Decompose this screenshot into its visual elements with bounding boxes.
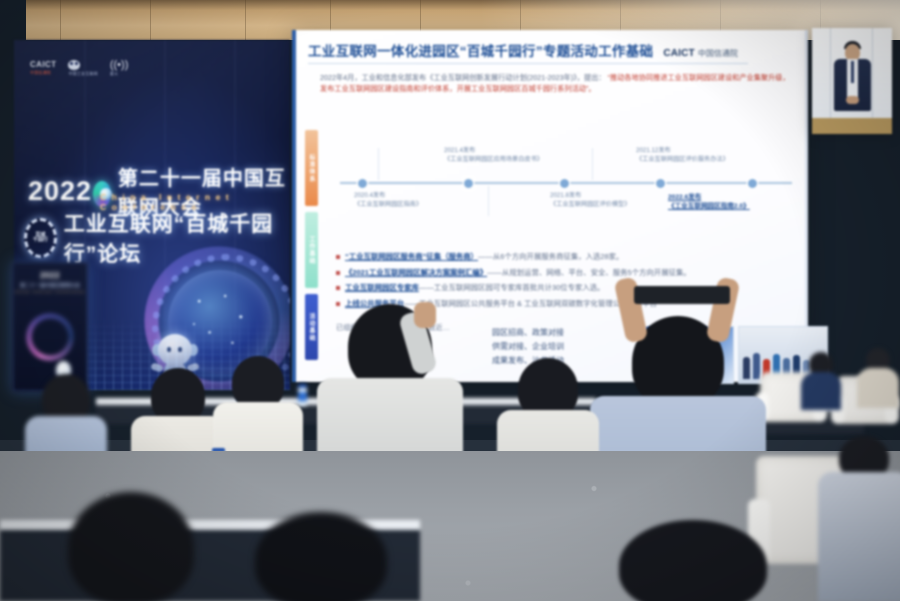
bullet-square-icon xyxy=(336,271,340,275)
slide-paragraph-plain: 2022年4月，工业和信息化部发布《工业互联网创新发展行动计划(2021-202… xyxy=(320,73,606,82)
gear-icon: 百城千园行 xyxy=(24,218,57,258)
timeline-node-2 xyxy=(464,179,473,188)
list-item: 《2021工业互联网园区解决方案案例汇编》——从规划运营、网络、平台、安全、服务… xyxy=(336,268,791,277)
sponsor-logo-caict-sub: 中国信通院 xyxy=(30,70,51,76)
timeline-label-1: 2020.4发布 《工业互联网园区指南》 xyxy=(354,192,422,209)
slide-tab-standards-label: 标准体系 xyxy=(307,154,316,183)
slide-tab-standards: 标准体系 xyxy=(305,130,318,206)
sponsor-logo-iic-sub: 中国工业互联网 xyxy=(68,71,97,77)
sponsor-logo-row: CAICT 中国信通院 中国工业互联网 ((•)) 星火 xyxy=(30,60,128,77)
bullet-3-highlight: 工业互联网园区专家库 xyxy=(345,283,419,292)
stage-podium: 2022 第二十一届中国互联网大会 China Internet Confere… xyxy=(12,262,88,392)
sponsor-logo-xinghuo-sub: 星火 xyxy=(110,71,118,77)
podium-conference-name-en: China Internet Conference xyxy=(13,290,87,294)
podium-conference-name: 第二十一届中国互联网大会 xyxy=(13,282,87,289)
timeline-label-5-date: 2022.6发布 xyxy=(668,194,701,201)
sponsor-logo-caict: CAICT 中国信通院 xyxy=(30,61,56,76)
slide-org-abbr: CAICT xyxy=(663,48,695,59)
person-foreground-left xyxy=(56,492,206,601)
slide-tab-workbasis-label: 工作基础 xyxy=(307,236,316,265)
person-standing-right xyxy=(818,436,900,601)
timeline-label-3-doc: 《工业互联网园区评价模型》 xyxy=(550,201,630,208)
conference-photo: CAICT 中国信通院 中国工业互联网 ((•)) 星火 2022 第二十一届中… xyxy=(0,0,900,601)
person-seated-back-1 xyxy=(800,352,842,408)
bullet-2-highlight: 《2021工业互联网园区解决方案案例汇编》 xyxy=(345,268,487,277)
timeline-node-4 xyxy=(656,179,665,188)
screen-left-edge xyxy=(292,30,296,382)
bullet-1-rest: ——从6个方向开展服务商征集，入选28家。 xyxy=(478,252,623,261)
slide-bottom-col-1: 园区招商、政策对接 xyxy=(492,326,564,340)
person-foreground-center xyxy=(246,512,396,601)
bullet-3-rest: ——工业互联网园区园可专家库首批共计30位专家入选。 xyxy=(419,283,605,292)
slide-org-name: 中国信通院 xyxy=(698,48,738,59)
bullet-1-highlight: “工业互联网园区服务商”征集（服务商） xyxy=(345,252,478,261)
person-foreground-right xyxy=(608,520,778,601)
list-item: “工业互联网园区服务商”征集（服务商）——从6个方向开展服务商征集，入选28家。 xyxy=(336,252,791,261)
slide-title-divider xyxy=(308,63,748,64)
slide-timeline-axis xyxy=(340,182,792,184)
sponsor-logo-caict-main: CAICT xyxy=(30,61,56,69)
slide-tab-activitybasis-label: 活动基础 xyxy=(307,313,316,342)
timeline-label-1-doc: 《工业互联网园区指南》 xyxy=(354,201,422,208)
slide-paragraph: 2022年4月，工业和信息化部发布《工业互联网创新发展行动计划(2021-202… xyxy=(320,72,790,94)
bullet-square-icon xyxy=(336,255,340,259)
sponsor-logo-iic: 中国工业互联网 xyxy=(68,60,97,77)
timeline-label-5-doc: 《工业互联网园区指南2.0》 xyxy=(668,203,750,210)
timeline-label-2-date: 2021.4发布 xyxy=(444,147,475,154)
timeline-node-5 xyxy=(748,179,757,188)
bullet-square-icon xyxy=(336,286,340,290)
timeline-label-1-date: 2020.4发布 xyxy=(354,192,385,199)
timeline-label-5: 2022.6发布 《工业互联网园区指南2.0》 xyxy=(668,194,750,211)
timeline-label-3-date: 2021.8发布 xyxy=(550,192,581,199)
slide-title: 工业互联网一体化进园区“百城千园行”专题活动工作基础 xyxy=(308,40,653,60)
timeline-label-2-doc: 《工业互联网园区应用场景白皮书》 xyxy=(444,156,543,163)
signal-wave-icon: ((•)) xyxy=(110,60,129,70)
podium-ring-graphic xyxy=(26,313,74,361)
slide-bottom-col-2: 供需对接、企业培训 xyxy=(492,340,564,354)
slide-org-logo: CAICT 中国信通院 xyxy=(663,48,738,59)
timeline-label-3: 2021.8发布 《工业互联网园区评价模型》 xyxy=(550,192,630,209)
timeline-label-4-doc: 《工业互联网园区评价服务办法》 xyxy=(636,156,729,163)
podium-year: 2022 xyxy=(13,271,87,280)
bullet-2-rest: ——从规划运营、网络、平台、安全、服务5个方向开展征集。 xyxy=(487,268,691,277)
timeline-label-4: 2021.12发布 《工业互联网园区评价服务办法》 xyxy=(636,147,729,164)
presenter-desk xyxy=(812,118,892,134)
person-seated-back-2 xyxy=(856,348,900,406)
presenter-video-feed xyxy=(812,28,892,134)
timeline-label-2: 2021.4发布 《工业互联网园区应用场景白皮书》 xyxy=(444,147,543,164)
sponsor-logo-xinghuo: ((•)) 星火 xyxy=(110,60,129,77)
smartphone-icon xyxy=(634,286,730,304)
panda-icon xyxy=(68,60,80,70)
timeline-label-4-date: 2021.12发布 xyxy=(636,147,671,154)
slide-title-row: 工业互联网一体化进园区“百城千园行”专题活动工作基础 CAICT 中国信通院 xyxy=(308,40,738,60)
banner-year: 2022 xyxy=(28,176,92,207)
timeline-node-1 xyxy=(358,179,367,188)
timeline-node-3 xyxy=(560,179,569,188)
hand xyxy=(414,302,436,328)
slide-tab-workbasis: 工作基础 xyxy=(305,212,318,288)
